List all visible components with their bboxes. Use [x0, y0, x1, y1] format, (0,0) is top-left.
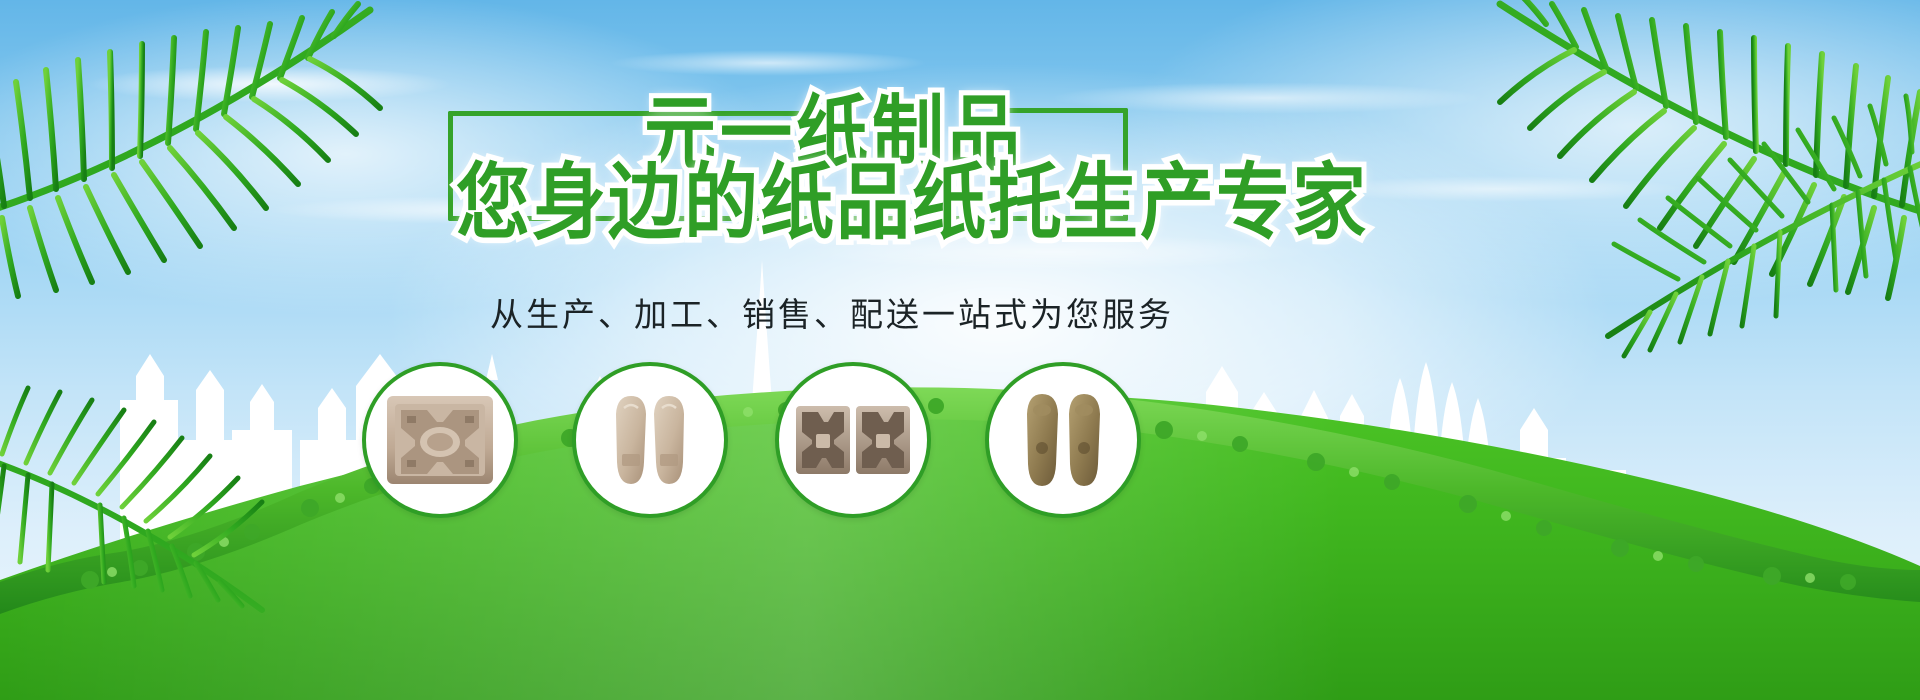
main-slogan: 您身边的纸品纸托生产专家 — [456, 136, 1368, 256]
product-circle-1[interactable] — [362, 362, 518, 518]
pulp-shoe-tree-icon — [591, 388, 709, 492]
frame-rule-top-right — [1008, 108, 1128, 113]
pulp-insert-icon — [794, 388, 912, 492]
product-circle-3[interactable] — [775, 362, 931, 518]
sub-slogan: 从生产、加工、销售、配送一站式为您服务 — [490, 288, 1174, 336]
frame-rule-left — [448, 111, 453, 221]
product-circle-2[interactable] — [572, 362, 728, 518]
green-hill — [0, 280, 1920, 700]
product-circle-4[interactable] — [985, 362, 1141, 518]
pulp-shoe-form-icon — [1004, 388, 1122, 492]
pulp-tray-icon — [381, 388, 499, 492]
promo-banner: 元一纸制品 您身边的纸品纸托生产专家 从生产、加工、销售、配送一站式为您服务 — [0, 0, 1920, 700]
